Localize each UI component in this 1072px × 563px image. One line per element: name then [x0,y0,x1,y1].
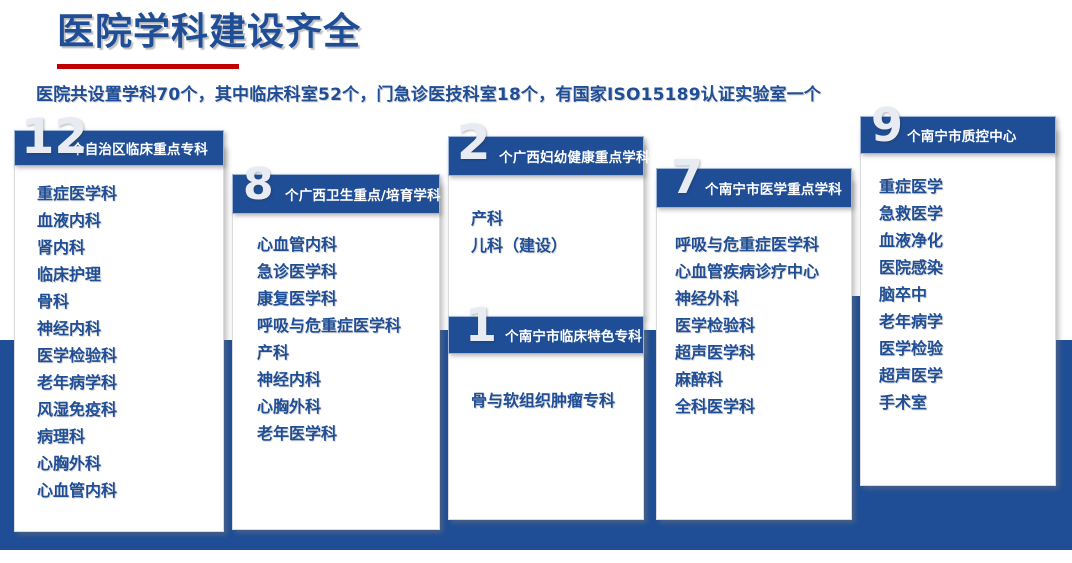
category-header-3[interactable]: 2 个广西妇幼健康重点学科 [448,136,644,176]
list-item: 神经内科 [257,366,439,393]
list-item: 骨与软组织肿瘤专科 [471,387,643,414]
list-item: 急救医学 [879,200,1055,227]
discipline-list-1: 重症医学科血液内科肾内科临床护理骨科神经内科医学检验科老年病学科风湿免疫科病理科… [15,180,223,504]
list-item: 呼吸与危重症医学科 [675,231,851,258]
list-item: 产科 [257,339,439,366]
discipline-list-3: 产科儿科（建设） [449,205,643,259]
subtitle-text: 医院共设置学科70个，其中临床科室52个，门急诊医技科室18个，有国家ISO15… [36,80,821,105]
list-item: 风湿免疫科 [37,396,223,423]
page-title: 医院学科建设齐全 [57,8,757,56]
category-number-2: 8 [243,163,274,207]
discipline-list-4: 骨与软组织肿瘤专科 [449,387,643,414]
category-card-6[interactable]: 重症医学急救医学血液净化医院感染脑卒中老年病学医学检验超声医学手术室 [860,128,1056,486]
discipline-list-6: 重症医学急救医学血液净化医院感染脑卒中老年病学医学检验超声医学手术室 [861,173,1055,416]
list-item: 心血管内科 [257,231,439,258]
list-item: 医院感染 [879,254,1055,281]
list-item: 呼吸与危重症医学科 [257,312,439,339]
category-card-2[interactable]: 心血管内科急诊医学科康复医学科呼吸与危重症医学科产科神经内科心胸外科老年医学科 [232,182,440,530]
list-item: 医学检验科 [37,342,223,369]
list-item: 急诊医学科 [257,258,439,285]
list-item: 临床护理 [37,261,223,288]
list-item: 血液净化 [879,227,1055,254]
category-label-1: 个自治区临床重点专科 [71,138,208,158]
category-header-2[interactable]: 8 个广西卫生重点/培育学科 [232,174,440,214]
category-card-4[interactable]: 骨与软组织肿瘤专科 [448,328,644,520]
list-item: 老年病学 [879,308,1055,335]
list-item: 肾内科 [37,234,223,261]
slide-canvas: 医院学科建设齐全 医院共设置学科70个，其中临床科室52个，门急诊医技科室18个… [0,0,1072,563]
discipline-list-2: 心血管内科急诊医学科康复医学科呼吸与危重症医学科产科神经内科心胸外科老年医学科 [233,231,439,447]
category-label-4: 个南宁市临床特色专科 [505,325,642,345]
list-item: 病理科 [37,423,223,450]
list-item: 产科 [471,205,643,232]
category-header-5[interactable]: 7 个南宁市医学重点学科 [656,168,852,208]
category-label-3: 个广西妇幼健康重点学科 [499,146,650,166]
title-underline-rule [57,64,239,69]
list-item: 全科医学科 [675,393,851,420]
category-label-5: 个南宁市医学重点学科 [705,178,842,198]
list-item: 老年医学科 [257,420,439,447]
list-item: 医学检验 [879,335,1055,362]
category-number-1: 12 [21,115,88,159]
list-item: 脑卒中 [879,281,1055,308]
list-item: 血液内科 [37,207,223,234]
list-item: 神经外科 [675,285,851,312]
list-item: 神经内科 [37,315,223,342]
list-item: 麻醉科 [675,366,851,393]
list-item: 骨科 [37,288,223,315]
list-item: 儿科（建设） [471,232,643,259]
category-number-5: 7 [671,155,703,199]
band-step-col1 [0,347,14,361]
discipline-list-5: 呼吸与危重症医学科心血管疾病诊疗中心神经外科医学检验科超声医学科麻醉科全科医学科 [657,231,851,420]
list-item: 重症医学 [879,173,1055,200]
category-number-3: 2 [457,121,490,165]
category-label-2: 个广西卫生重点/培育学科 [285,184,441,204]
list-item: 心血管疾病诊疗中心 [675,258,851,285]
category-header-1[interactable]: 12 个自治区临床重点专科 [14,130,224,166]
category-label-6: 个南宁市质控中心 [907,125,1017,145]
list-item: 心胸外科 [257,393,439,420]
list-item: 超声医学科 [675,339,851,366]
list-item: 超声医学 [879,362,1055,389]
list-item: 重症医学科 [37,180,223,207]
list-item: 手术室 [879,389,1055,416]
category-number-6: 9 [871,103,903,147]
title-block: 医院学科建设齐全 [57,8,757,70]
list-item: 康复医学科 [257,285,439,312]
list-item: 老年病学科 [37,369,223,396]
list-item: 医学检验科 [675,312,851,339]
category-number-4: 1 [465,303,497,347]
list-item: 心胸外科 [37,450,223,477]
category-header-6[interactable]: 9 个南宁市质控中心 [860,116,1056,154]
category-card-5[interactable]: 呼吸与危重症医学科心血管疾病诊疗中心神经外科医学检验科超声医学科麻醉科全科医学科 [656,178,852,520]
category-card-1[interactable]: 重症医学科血液内科肾内科临床护理骨科神经内科医学检验科老年病学科风湿免疫科病理科… [14,145,224,532]
category-header-4[interactable]: 1 个南宁市临床特色专科 [448,316,644,354]
list-item: 心血管内科 [37,477,223,504]
